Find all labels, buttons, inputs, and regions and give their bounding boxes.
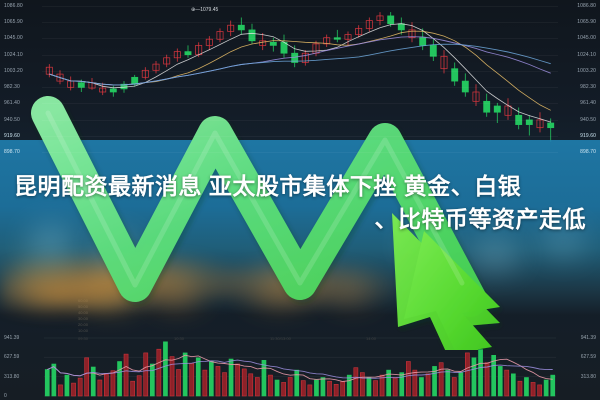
price-tick-right: 961.40 [580, 100, 596, 106]
headline-text: 昆明配资最新消息 亚太股市集体下挫 黄金、白银 、比特币等资产走低 [14, 170, 586, 235]
price-gridline [42, 71, 558, 72]
headline-line-1: 昆明配资最新消息 亚太股市集体下挫 黄金、白银 [14, 170, 586, 203]
price-tick-left: 1045.00 [4, 35, 23, 41]
price-tick-right: 940.50 [580, 117, 596, 123]
price-tick-right: 1003.20 [577, 68, 596, 74]
volume-tick-right: 627.59 [581, 354, 596, 360]
volume-tick-left: 313.80 [4, 374, 19, 380]
price-gridline [42, 38, 558, 39]
price-gridline [42, 22, 558, 23]
headline-line-2: 、比特币等资产走低 [14, 203, 586, 236]
price-tick-right: 1065.90 [577, 19, 596, 25]
price-tick-right: 982.30 [580, 84, 596, 90]
price-gridline [42, 136, 558, 137]
price-tick-left: 1024.10 [4, 52, 23, 58]
price-gridline [42, 55, 558, 56]
price-gridline [42, 87, 558, 88]
price-gridline [42, 6, 558, 7]
price-tick-left: 898.70 [4, 149, 20, 155]
volume-tick-left: 627.59 [4, 354, 19, 360]
volume-tick-left: 941.39 [4, 335, 19, 341]
price-gridline [42, 103, 558, 104]
price-tick-left: 940.50 [4, 117, 20, 123]
price-tick-right: 1045.00 [577, 35, 596, 41]
volume-tick-left: 0 [4, 393, 7, 399]
price-tick-left: 982.30 [4, 84, 20, 90]
price-tick-right: 1024.10 [577, 52, 596, 58]
price-gridline [42, 120, 558, 121]
high-price-annotation: ⊕—1079.45 [191, 7, 218, 13]
volume-tick-right: 313.80 [581, 374, 596, 380]
price-tick-left: 1086.80 [4, 3, 23, 9]
news-banner-image: ⊕—1079.45 60.0050.0040.0030.0020.0010.00… [0, 0, 600, 400]
price-tick-left: 1065.90 [4, 19, 23, 25]
price-gridline [42, 152, 558, 153]
price-tick-left: 1003.20 [4, 68, 23, 74]
price-tick-left: 919.60 [4, 133, 20, 139]
price-tick-left: 961.40 [4, 100, 20, 106]
price-tick-right: 898.70 [580, 149, 596, 155]
price-tick-right: 1086.80 [577, 3, 596, 9]
volume-tick-right: 941.39 [581, 335, 596, 341]
price-tick-right: 919.60 [580, 133, 596, 139]
